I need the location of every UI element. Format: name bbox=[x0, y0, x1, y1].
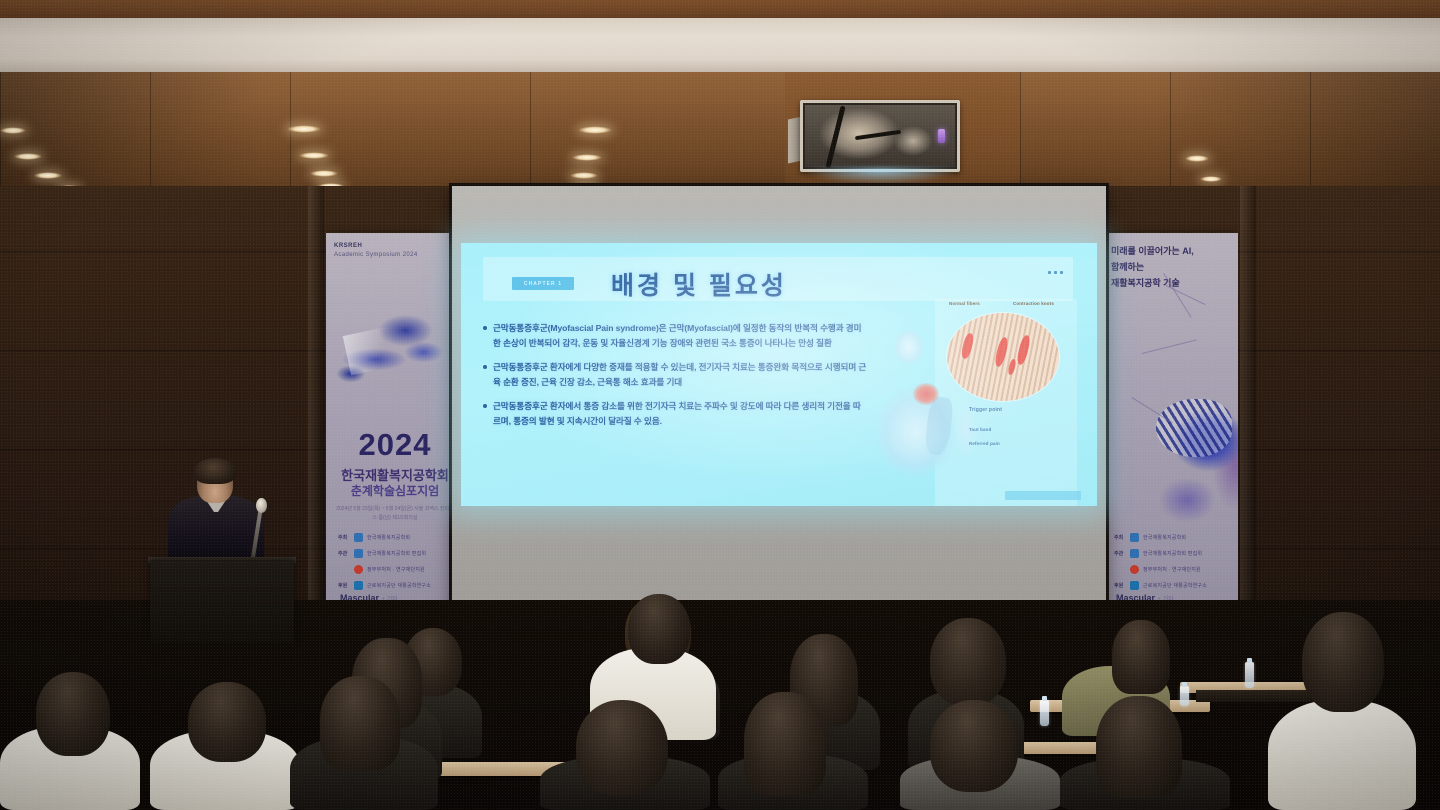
slide-bullet-list: 근막동통증후군(Myofascial Pain syndrome)은 근막(My… bbox=[483, 321, 868, 438]
banner-left-subtitle: 춘계학술심포지엄 bbox=[326, 482, 464, 499]
ceiling-downlight bbox=[287, 125, 321, 133]
ministry-logo-icon bbox=[354, 565, 363, 574]
ceiling-downlight bbox=[1185, 155, 1209, 162]
ceiling-panel bbox=[1310, 72, 1440, 190]
banner-logo-row: 주최 한국재활복지공학회 bbox=[1114, 533, 1228, 542]
logo-key: 주최 bbox=[338, 534, 350, 541]
slide-title: 배경 및 필요성 bbox=[611, 266, 787, 302]
logo-text: 한국재활복지공학회 bbox=[367, 534, 410, 541]
chapter-badge: CHAPTER 1 bbox=[512, 277, 574, 290]
audience-member-head bbox=[36, 672, 110, 756]
logo-text: 정부부처처 · 연구재단지원 bbox=[367, 566, 425, 573]
banner-logo-row: 후원 근로복지공단 재활공학연구소 bbox=[338, 581, 454, 590]
logo-key: 후원 bbox=[1114, 582, 1126, 589]
ceiling-panel bbox=[150, 72, 290, 190]
banner-left: KRSREH Academic Symposium 2024 2024 한국재활… bbox=[326, 233, 464, 663]
banner-logo-row: 주관 한국재활복지공학회 편집위 bbox=[338, 549, 454, 558]
society-logo-icon bbox=[354, 549, 363, 558]
logo-key: 주관 bbox=[338, 550, 350, 557]
projector-light-beam bbox=[806, 168, 956, 184]
logo-text: 정부부처처 · 연구재단지원 bbox=[1143, 566, 1201, 573]
society-logo-icon bbox=[1130, 549, 1139, 558]
slide-bullet: 근막동통증후군 환자에서 통증 감소를 위한 전기자극 치료는 주파수 및 강도… bbox=[483, 399, 868, 429]
shoulder-trigger-point bbox=[913, 383, 939, 405]
banner-left-org-short: KRSREH bbox=[334, 243, 456, 249]
label-referred-pain: Referred pain bbox=[969, 441, 1000, 447]
bullet-text: 근막동통증후군 환자에서 통증 감소를 위한 전기자극 치료는 주파수 및 강도… bbox=[493, 399, 868, 429]
ceiling-panel bbox=[1020, 72, 1170, 190]
slide-bullet: 근막동통증후군(Myofascial Pain syndrome)은 근막(My… bbox=[483, 321, 868, 351]
ceiling-downlight bbox=[14, 153, 42, 160]
society-logo-icon bbox=[354, 533, 363, 542]
audience-member-head bbox=[628, 594, 690, 664]
audience-member-head bbox=[576, 700, 668, 796]
ceiling-downlight bbox=[572, 154, 602, 161]
ceiling-downlight bbox=[34, 172, 62, 179]
ceiling-downlight bbox=[299, 152, 329, 159]
projected-slide: CHAPTER 1 배경 및 필요성 근막동통증후군(Myofascial Pa… bbox=[461, 243, 1097, 506]
logo-text: 한국재활복지공학회 편집위 bbox=[1143, 550, 1202, 557]
audience-member-head bbox=[1112, 620, 1170, 694]
ceiling-beam bbox=[0, 18, 1440, 73]
wall-column bbox=[1240, 186, 1256, 646]
audience-member-head bbox=[930, 618, 1006, 706]
banner-right: 미래를 이끌어가는 AI, 함께하는 재활복지공학 기술 주최 한국재활복지공학… bbox=[1102, 233, 1238, 663]
ceiling-downlight bbox=[1200, 176, 1222, 182]
ceiling-downlight bbox=[0, 127, 26, 134]
label-contraction-knots: Contraction knots bbox=[1013, 301, 1057, 307]
ceiling-downlight bbox=[578, 126, 612, 134]
banner-left-logos: 주최 한국재활복지공학회 주관 한국재활복지공학회 편집위 정부부처처 · 연구… bbox=[338, 533, 454, 597]
audience-member-body bbox=[1268, 700, 1416, 810]
logo-text: 근로복지공단 재활공학연구소 bbox=[367, 582, 431, 589]
projector-status-led bbox=[938, 129, 945, 143]
bullet-text: 근막동통증후군 환자에게 다양한 중재를 적용할 수 있는데, 전기자극 치료는… bbox=[493, 360, 868, 390]
audience-member-head bbox=[744, 692, 826, 796]
bullet-dot-icon bbox=[483, 404, 487, 408]
logo-text: 근로복지공단 재활공학연구소 bbox=[1143, 582, 1207, 589]
audience-member-head bbox=[188, 682, 266, 762]
bullet-dot-icon bbox=[483, 326, 487, 330]
banner-logo-row: 주관 한국재활복지공학회 편집위 bbox=[1114, 549, 1228, 558]
podium bbox=[150, 561, 294, 643]
projector-housing bbox=[800, 100, 960, 172]
water-bottle bbox=[1245, 662, 1254, 688]
logo-key: 주관 bbox=[1114, 550, 1126, 557]
slide-footer-accent bbox=[1005, 491, 1081, 500]
audience-member-head bbox=[1302, 612, 1384, 712]
logo-key: 주최 bbox=[1114, 534, 1126, 541]
label-normal-fibers: Normal fibers bbox=[949, 301, 985, 307]
banner-left-header: KRSREH Academic Symposium 2024 bbox=[334, 243, 456, 258]
banner-left-date: 2024년 5월 23일(목) ~ 5월 24일(금) 서울 코엑스 컨퍼런스 … bbox=[336, 505, 454, 523]
water-bottle bbox=[1180, 686, 1189, 706]
logo-key: 후원 bbox=[338, 582, 350, 589]
ministry-logo-icon bbox=[1130, 565, 1139, 574]
ceiling-panel bbox=[530, 72, 785, 190]
robotic-hand-graphic bbox=[330, 285, 460, 405]
banner-logo-row: 정부부처처 · 연구재단지원 bbox=[1114, 565, 1228, 574]
slide-bullet: 근막동통증후군 환자에게 다양한 중재를 적용할 수 있는데, 전기자극 치료는… bbox=[483, 360, 868, 390]
microphone-icon bbox=[256, 498, 267, 513]
audience-member-head bbox=[1096, 696, 1182, 798]
bullet-text: 근막동통증후군(Myofascial Pain syndrome)은 근막(My… bbox=[493, 321, 868, 351]
label-taut-band: Taut band bbox=[969, 427, 991, 433]
slide-corner-dots-icon bbox=[1048, 271, 1063, 274]
audience-member-head bbox=[930, 700, 1018, 792]
society-logo-icon bbox=[1130, 533, 1139, 542]
ceiling-downlight bbox=[310, 170, 338, 177]
banner-logo-row: 주최 한국재활복지공학회 bbox=[338, 533, 454, 542]
ceiling-panel bbox=[1170, 72, 1310, 190]
banner-right-logos: 주최 한국재활복지공학회 주관 한국재활복지공학회 편집위 정부부처처 · 연구… bbox=[1114, 533, 1228, 597]
welfare-logo-icon bbox=[1130, 581, 1139, 590]
audience-member-head bbox=[320, 676, 400, 770]
water-bottle bbox=[1040, 700, 1049, 726]
logo-text: 한국재활복지공학회 bbox=[1143, 534, 1186, 541]
myofascial-trigger-point-diagram: Normal fibers Contraction knots Trigger … bbox=[861, 305, 1069, 495]
banner-logo-row: 정부부처처 · 연구재단지원 bbox=[338, 565, 454, 574]
logo-text: 한국재활복지공학회 편집위 bbox=[367, 550, 426, 557]
banner-logo-row: 후원 근로복지공단 재활공학연구소 bbox=[1114, 581, 1228, 590]
ceiling-downlight bbox=[570, 172, 598, 179]
speaker-hair bbox=[194, 458, 236, 484]
muscle-fiber-closeup bbox=[947, 313, 1059, 401]
banner-left-symposium-line: Academic Symposium 2024 bbox=[334, 252, 456, 258]
wall-column bbox=[308, 186, 324, 646]
bullet-dot-icon bbox=[483, 365, 487, 369]
banner-left-year: 2024 bbox=[326, 427, 464, 463]
label-trigger-point: Trigger point bbox=[969, 407, 1002, 413]
conference-hall-photo: KRSREH Academic Symposium 2024 2024 한국재활… bbox=[0, 0, 1440, 810]
welfare-logo-icon bbox=[354, 581, 363, 590]
